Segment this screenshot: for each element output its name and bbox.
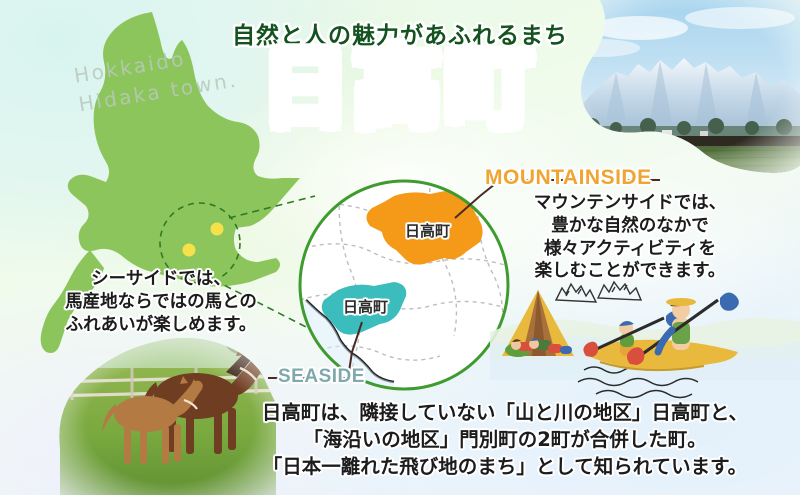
mountain-region-label: 日高町 — [405, 220, 450, 241]
seaside-label: SEASIDE — [278, 366, 365, 388]
seaside-description: シーサイドでは、馬産地ならではの馬とのふれあいが楽しめます。 — [30, 268, 292, 337]
summary-description: 日高町は、隣接していない「山と川の地区」日高町と、「海沿いの地区」門別町の2町が… — [215, 400, 795, 481]
poster-root: Hokkaido Hidaka town. 自然と人の魅力があふれるまち 日高町… — [0, 0, 800, 495]
page-title: 日高町 — [0, 44, 800, 134]
sea-region-label: 日高町 — [343, 296, 388, 317]
mountainside-description: マウンテンサイドでは、豊かな自然のなかで様々アクティビティを楽しむことができます… — [500, 192, 760, 283]
mountainside-label: MOUNTAINSIDE — [485, 166, 652, 190]
mountains-sketch-icon — [556, 282, 641, 302]
